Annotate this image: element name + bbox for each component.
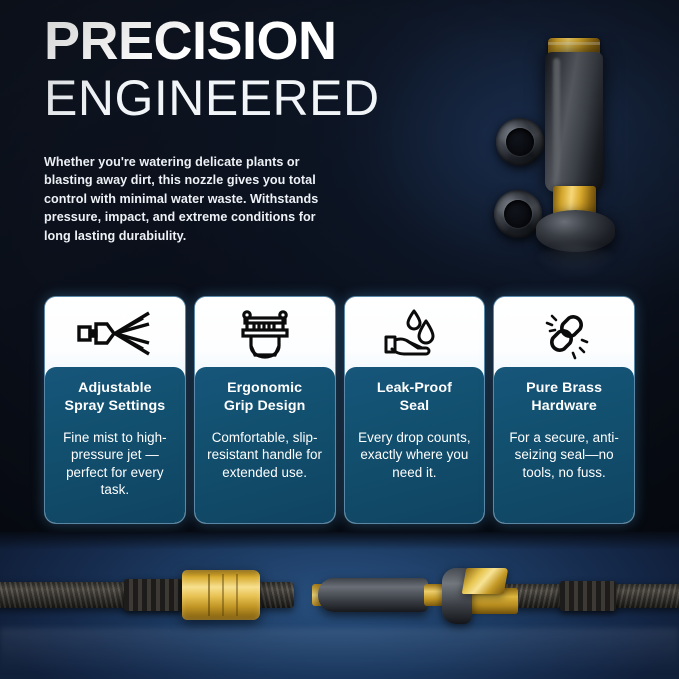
band-reflection <box>0 628 679 674</box>
card-text-panel: Adjustable Spray Settings Fine mist to h… <box>45 367 185 523</box>
card-description: Comfortable, slip-resistant handle for e… <box>203 429 327 480</box>
bottom-product-band <box>0 532 679 679</box>
card-title-line1: Adjustable <box>78 380 152 396</box>
band-top-shadow <box>0 532 679 550</box>
valve-lever <box>462 568 509 594</box>
card-title: Ergonomic Grip Design <box>224 380 306 415</box>
washer-ring-upper <box>496 118 544 166</box>
card-description: Every drop counts, exactly where you nee… <box>353 429 477 480</box>
headline-block: PRECISION ENGINEERED <box>44 14 380 126</box>
headline-line-2: ENGINEERED <box>44 70 380 126</box>
subcopy-paragraph: Whether you're watering delicate plants … <box>44 153 334 245</box>
card-title-line1: Leak-Proof <box>377 380 452 396</box>
card-title-line1: Ergonomic <box>227 380 302 396</box>
rubber-grip <box>318 578 428 612</box>
card-title: Pure Brass Hardware <box>526 380 602 415</box>
card-description: For a secure, anti-seizing seal—no tools… <box>502 429 626 480</box>
product-image-nozzle <box>470 18 670 273</box>
card-icon-area <box>45 297 185 371</box>
feature-card-ergonomic-grip[interactable]: Ergonomic Grip Design Comfortable, slip-… <box>195 297 335 523</box>
chain-link-icon <box>536 308 592 360</box>
card-icon-area <box>345 297 485 371</box>
card-description: Fine mist to high-pressure jet — perfect… <box>53 429 177 498</box>
card-text-panel: Leak-Proof Seal Every drop counts, exact… <box>345 367 485 523</box>
card-title-line2: Spray Settings <box>65 398 166 414</box>
feature-card-leak-proof-seal[interactable]: Leak-Proof Seal Every drop counts, exact… <box>345 297 485 523</box>
feature-card-pure-brass[interactable]: Pure Brass Hardware For a secure, anti-s… <box>494 297 634 523</box>
nozzle-body <box>545 52 603 192</box>
infographic-canvas: PRECISION ENGINEERED Whether you're wate… <box>0 0 679 679</box>
feature-cards-row: Adjustable Spray Settings Fine mist to h… <box>45 297 634 523</box>
card-text-panel: Pure Brass Hardware For a secure, anti-s… <box>494 367 634 523</box>
spray-nozzle-icon <box>77 311 153 357</box>
card-title-line2: Seal <box>400 398 430 414</box>
card-title-line2: Hardware <box>531 398 596 414</box>
card-title-line1: Pure Brass <box>526 380 602 396</box>
hose-ferrule-right <box>560 581 616 611</box>
hose-ferrule-left <box>124 579 182 611</box>
headline-line-1: PRECISION <box>44 14 380 68</box>
hand-grip-icon <box>237 309 293 359</box>
card-icon-area <box>494 297 634 371</box>
card-title-line2: Grip Design <box>224 398 306 414</box>
card-icon-area <box>195 297 335 371</box>
feature-card-adjustable-spray[interactable]: Adjustable Spray Settings Fine mist to h… <box>45 297 185 523</box>
washer-ring-lower <box>494 190 542 238</box>
card-title: Leak-Proof Seal <box>377 380 452 415</box>
gold-hose-connector <box>182 570 260 620</box>
water-drop-hand-icon <box>383 309 445 359</box>
card-title: Adjustable Spray Settings <box>65 380 166 415</box>
nozzle-reflection <box>532 246 620 280</box>
card-text-panel: Ergonomic Grip Design Comfortable, slip-… <box>195 367 335 523</box>
